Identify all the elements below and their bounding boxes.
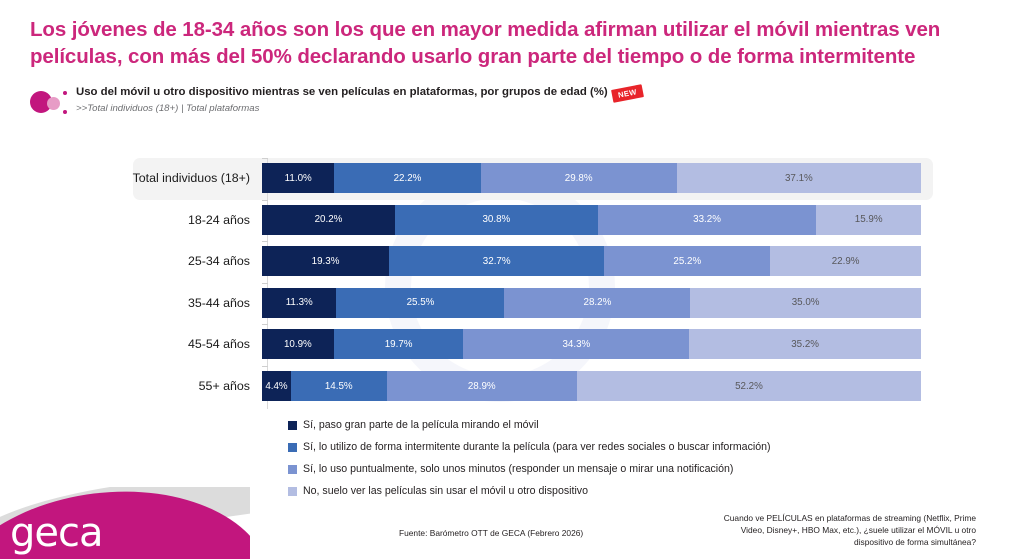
bar-segment-s4: 15.9% [816,205,921,235]
source-note: Fuente: Barómetro OTT de GECA (Febrero 2… [399,528,583,538]
row-label-1: Total individuos (18+) [0,171,262,185]
chart-legend: Sí, paso gran parte de la película miran… [288,414,928,502]
bar-segment-s3: 28.9% [387,371,577,401]
row-label-5: 45-54 años [0,337,262,351]
legend-label: Sí, lo utilizo de forma intermitente dur… [303,441,771,453]
row-label-2: 18-24 años [0,213,262,227]
stacked-bar: 11.3%25.5%28.2%35.0% [262,288,921,318]
chart-row: 45-54 años10.9%19.7%34.3%35.2% [0,329,1024,359]
geca-logo: geca [10,510,103,556]
legend-label: Sí, paso gran parte de la película miran… [303,419,539,431]
legend-swatch-icon [288,487,297,496]
row-label-3: 25-34 años [0,254,262,268]
bar-segment-s1: 19.3% [262,246,389,276]
bar-segment-s1: 20.2% [262,205,395,235]
stacked-bar: 20.2%30.8%33.2%15.9% [262,205,921,235]
chart-row: 35-44 años11.3%25.5%28.2%35.0% [0,288,1024,318]
stacked-bar: 19.3%32.7%25.2%22.9% [262,246,921,276]
chart-base-note: >>Total individuos (18+) | Total platafo… [76,103,259,114]
bar-segment-s3: 25.2% [604,246,770,276]
bar-segment-s4: 35.0% [690,288,921,318]
chart-row: 18-24 años20.2%30.8%33.2%15.9% [0,205,1024,235]
chart-row: 25-34 años19.3%32.7%25.2%22.9% [0,246,1024,276]
legend-item-4[interactable]: No, suelo ver las películas sin usar el … [288,480,928,502]
page-title: Los jóvenes de 18-34 años son los que en… [30,16,980,70]
stacked-bar: 11.0%22.2%29.8%37.1% [262,163,921,193]
stacked-bar-chart: Total individuos (18+)11.0%22.2%29.8%37.… [0,150,1024,415]
bar-segment-s1: 10.9% [262,329,334,359]
bar-segment-s2: 22.2% [334,163,480,193]
chart-row: Total individuos (18+)11.0%22.2%29.8%37.… [0,163,1024,193]
bar-segment-s3: 28.2% [504,288,690,318]
bar-segment-s2: 14.5% [291,371,387,401]
bar-segment-s4: 22.9% [770,246,921,276]
survey-question: Cuando ve PELÍCULAS en plataformas de st… [714,512,976,549]
bar-segment-s2: 32.7% [389,246,604,276]
bar-segment-s1: 11.0% [262,163,334,193]
legend-swatch-icon [288,443,297,452]
bar-segment-s4: 37.1% [677,163,921,193]
legend-item-3[interactable]: Sí, lo uso puntualmente, solo unos minut… [288,458,928,480]
stacked-bar: 10.9%19.7%34.3%35.2% [262,329,921,359]
legend-item-2[interactable]: Sí, lo utilizo de forma intermitente dur… [288,436,928,458]
legend-item-1[interactable]: Sí, paso gran parte de la película miran… [288,414,928,436]
bar-segment-s2: 19.7% [334,329,464,359]
stacked-bar: 4.4%14.5%28.9%52.2% [262,371,921,401]
row-label-4: 35-44 años [0,296,262,310]
legend-label: Sí, lo uso puntualmente, solo unos minut… [303,463,733,475]
bar-segment-s3: 34.3% [463,329,689,359]
chart-subheader: Uso del móvil u otro dispositivo mientra… [30,86,670,120]
bar-segment-s3: 29.8% [481,163,677,193]
legend-swatch-icon [288,465,297,474]
bar-segment-s1: 11.3% [262,288,336,318]
bar-segment-s3: 33.2% [598,205,817,235]
legend-label: No, suelo ver las películas sin usar el … [303,485,588,497]
bar-segment-s2: 25.5% [336,288,504,318]
legend-swatch-icon [288,421,297,430]
bullet-circle-icon [30,88,76,116]
chart-subtitle: Uso del móvil u otro dispositivo mientra… [76,86,608,98]
bar-segment-s2: 30.8% [395,205,598,235]
bar-segment-s1: 4.4% [262,371,291,401]
row-label-6: 55+ años [0,379,262,393]
brand-corner: geca [0,487,250,559]
bar-segment-s4: 35.2% [689,329,921,359]
chart-row: 55+ años4.4%14.5%28.9%52.2% [0,371,1024,401]
bar-segment-s4: 52.2% [577,371,921,401]
